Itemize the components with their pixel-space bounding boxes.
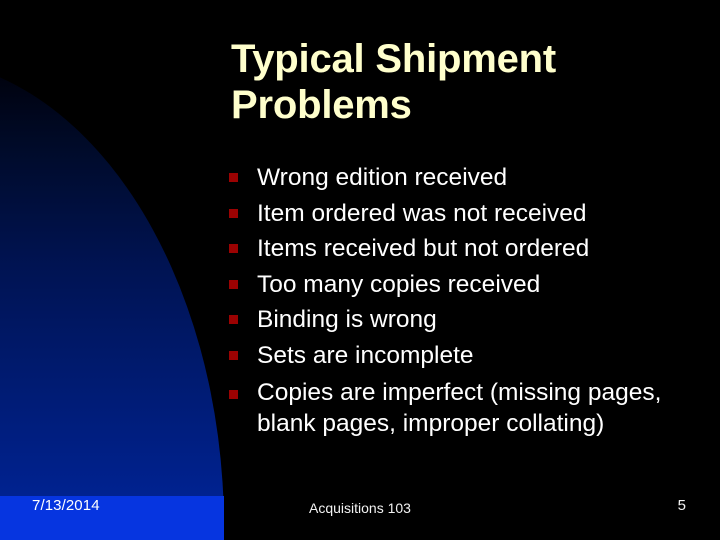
bullet-square-icon <box>229 209 238 218</box>
bullet-square-icon <box>229 351 238 360</box>
list-item: Sets are incomplete <box>228 338 683 373</box>
bullet-square-icon <box>229 390 238 399</box>
list-item: Binding is wrong <box>228 302 683 337</box>
list-item-label: Item ordered was not received <box>257 200 587 227</box>
list-item: Wrong edition received <box>228 160 683 195</box>
bullet-square-icon <box>229 244 238 253</box>
list-item-label: Too many copies received <box>257 271 540 298</box>
list-item-label: Items received but not ordered <box>257 235 589 262</box>
bullet-list: Wrong edition received Item ordered was … <box>228 160 683 439</box>
list-item-label: Binding is wrong <box>257 306 437 333</box>
list-item: Copies are imperfect (missing pages, bla… <box>228 377 683 439</box>
footer-course-title: Acquisitions 103 <box>0 500 720 516</box>
list-item: Too many copies received <box>228 267 683 302</box>
list-item-label: Sets are incomplete <box>257 342 474 369</box>
list-item: Items received but not ordered <box>228 231 683 266</box>
bullet-square-icon <box>229 315 238 324</box>
slide-title: Typical Shipment Problems <box>231 36 691 128</box>
list-item: Item ordered was not received <box>228 196 683 231</box>
list-item-label: Copies are imperfect (missing pages, bla… <box>257 379 661 437</box>
footer-page-number: 5 <box>678 497 686 514</box>
bullet-square-icon <box>229 280 238 289</box>
bullet-square-icon <box>229 173 238 182</box>
slide-canvas: Typical Shipment Problems Wrong edition … <box>0 0 720 540</box>
blue-ellipse-decoration <box>0 58 224 540</box>
list-item-label: Wrong edition received <box>257 164 507 191</box>
